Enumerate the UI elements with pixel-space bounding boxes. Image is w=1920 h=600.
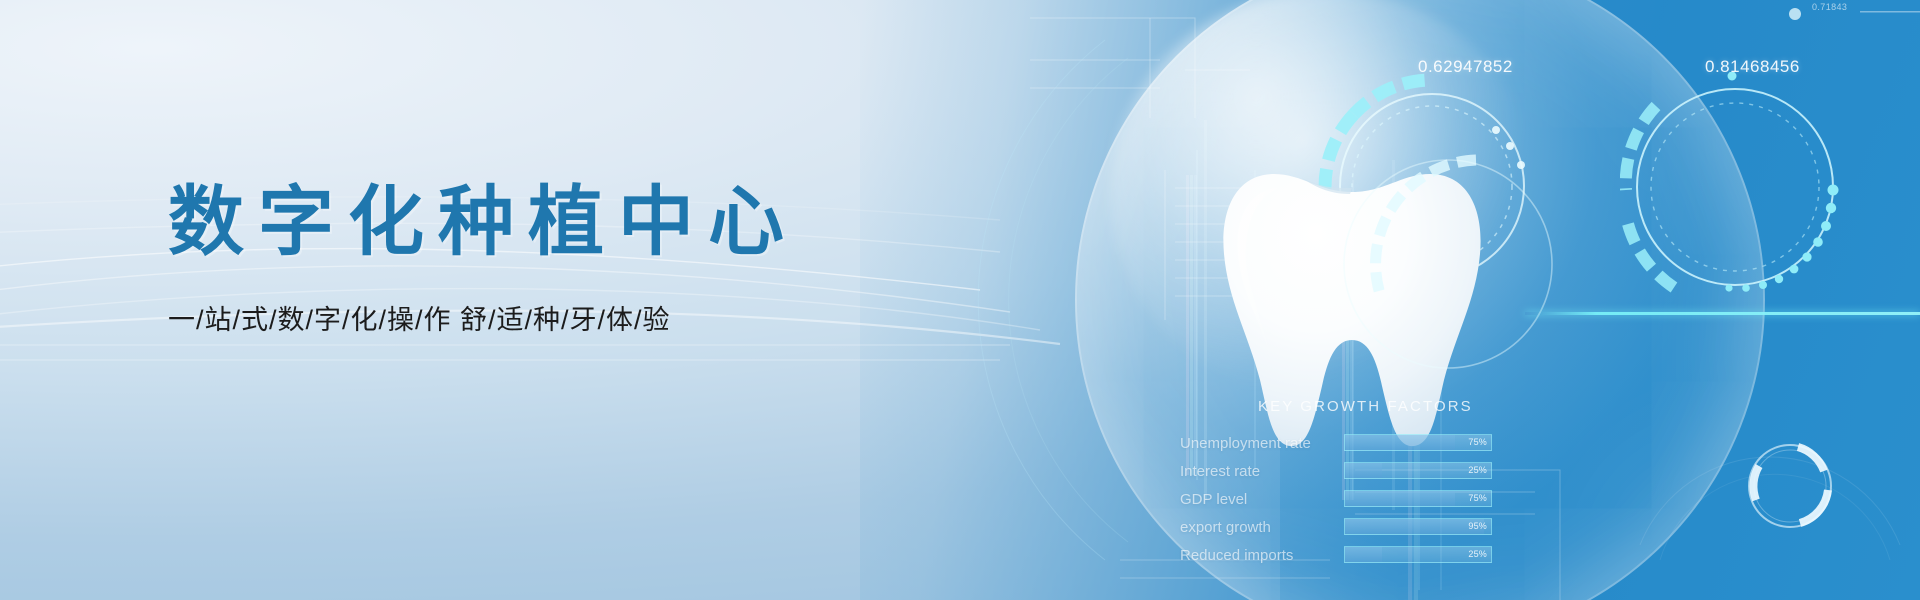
chart-row-track: 95% — [1344, 518, 1492, 535]
chart-row-fill — [1345, 547, 1382, 562]
chart-row: Unemployment rate 75% — [1180, 433, 1500, 457]
chart-row-value: 75% — [1468, 493, 1487, 503]
readout-tick-line — [1860, 8, 1920, 16]
chart-row: Interest rate 25% — [1180, 461, 1500, 485]
chart-title: KEY GROWTH FACTORS — [1258, 398, 1473, 415]
chart-row-track: 75% — [1344, 490, 1492, 507]
chart-row-label: Unemployment rate — [1180, 435, 1311, 452]
page-subtitle: 一/站/式/数/字/化/操/作 舒/适/种/牙/体/验 — [168, 298, 868, 337]
chart-row: GDP level 75% — [1180, 489, 1500, 513]
readout-dot-icon — [1783, 2, 1809, 26]
chart-row-fill — [1345, 435, 1455, 450]
chart-row-value: 25% — [1468, 549, 1487, 559]
chart-row-track: 25% — [1344, 462, 1492, 479]
chart-row-fill — [1345, 491, 1455, 506]
key-growth-factors-chart: KEY GROWTH FACTORS Unemployment rate 75%… — [1180, 398, 1500, 598]
chart-row-value: 95% — [1468, 521, 1487, 531]
hero-banner: 0.62947852 0.81468456 0.71843 KEY GROWTH… — [0, 0, 1920, 600]
chart-row-label: Interest rate — [1180, 463, 1260, 480]
chart-row-label: export growth — [1180, 519, 1271, 536]
readout-right: 0.81468456 — [1705, 57, 1800, 77]
page-title: 数字化种植中心 — [168, 178, 868, 268]
chart-row: export growth 95% — [1180, 517, 1500, 541]
chart-row-fill — [1345, 463, 1382, 478]
chart-row-value: 25% — [1468, 465, 1487, 475]
chart-row-label: GDP level — [1180, 491, 1247, 508]
chart-row: Reduced imports 25% — [1180, 545, 1500, 569]
readout-tiny: 0.71843 — [1812, 2, 1847, 12]
chart-row-label: Reduced imports — [1180, 547, 1293, 564]
hero-text-block: 数字化种植中心 一/站/式/数/字/化/操/作 舒/适/种/牙/体/验 — [168, 178, 868, 337]
cyan-divider-line — [1525, 312, 1920, 315]
tooth-arc-highlight — [1318, 72, 1578, 392]
chart-row-fill — [1345, 519, 1484, 534]
dotted-ring-icon — [1620, 72, 1850, 302]
progress-ring-icon — [1742, 438, 1838, 534]
chart-row-track: 75% — [1344, 434, 1492, 451]
readout-left: 0.62947852 — [1418, 57, 1513, 77]
chart-rows: Unemployment rate 75% Interest rate 25% … — [1180, 433, 1500, 573]
chart-row-track: 25% — [1344, 546, 1492, 563]
chart-row-value: 75% — [1468, 437, 1487, 447]
